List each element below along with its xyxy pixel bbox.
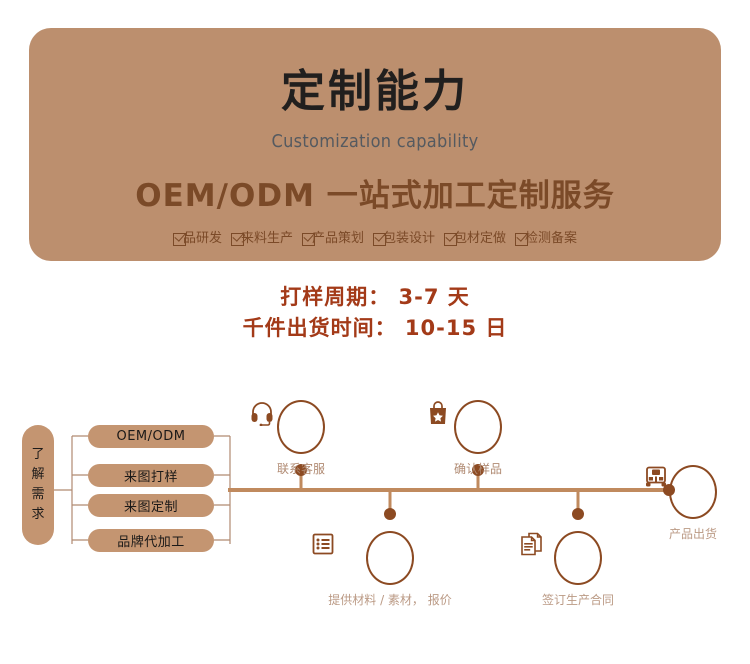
capability-banner: 定制能力 Customization capability OEM/ODM 一站… xyxy=(29,28,721,261)
headset-icon xyxy=(277,400,325,454)
list-document-icon xyxy=(366,531,414,585)
service-tag-label: 产品策划 xyxy=(312,230,364,248)
lead-time-info: 打样周期： 3-7 天 千件出货时间： 10-15 日 xyxy=(0,282,750,344)
need-char: 求 xyxy=(31,508,44,522)
need-char: 解 xyxy=(31,468,44,482)
service-tag-label: 包装设计 xyxy=(383,230,435,248)
sample-lead-time: 打样周期： 3-7 天 xyxy=(0,282,750,313)
need-char: 需 xyxy=(31,488,44,502)
banner-headline: OEM/ODM 一站式加工定制服务 xyxy=(29,176,721,216)
checkbox-checked-icon xyxy=(302,233,315,246)
flow-step-contact-service[interactable]: 联系客服 xyxy=(249,400,353,477)
option-pill-sample-by-image[interactable]: 来图打样 xyxy=(88,464,214,487)
service-tag: 产品策划 xyxy=(302,230,364,248)
option-pill-oem-odm[interactable]: OEM/ODM xyxy=(88,425,214,448)
checkbox-checked-icon xyxy=(173,233,186,246)
flow-step-label: 签订生产合同 xyxy=(518,592,638,608)
banner-subtitle: Customization capability xyxy=(29,131,721,153)
flow-step-label: 联系客服 xyxy=(249,461,353,477)
contract-documents-icon xyxy=(554,531,602,585)
flow-step-label: 产品出货 xyxy=(643,526,743,542)
understand-requirement-box: 了 解 需 求 xyxy=(22,425,54,545)
checkbox-checked-icon xyxy=(444,233,457,246)
service-tag-label: 包材定做 xyxy=(454,230,506,248)
checkbox-checked-icon xyxy=(231,233,244,246)
service-tag-label: 检测备案 xyxy=(525,230,577,248)
bulk-shipping-time: 千件出货时间： 10-15 日 xyxy=(0,313,750,344)
flow-step-provide-materials[interactable]: 提供材料 / 素材， 报价 xyxy=(310,531,470,608)
flow-step-sign-contract[interactable]: 签订生产合同 xyxy=(518,531,638,608)
service-tag-label: 来料生产 xyxy=(241,230,293,248)
checkbox-checked-icon xyxy=(515,233,528,246)
service-tag: 来料生产 xyxy=(231,230,293,248)
delivery-truck-icon xyxy=(669,465,717,519)
service-tag: 包材定做 xyxy=(444,230,506,248)
flow-step-confirm-sample[interactable]: 确认样品 xyxy=(426,400,530,477)
option-pill-custom-by-image[interactable]: 来图定制 xyxy=(88,494,214,517)
option-pill-brand-oem[interactable]: 品牌代加工 xyxy=(88,529,214,552)
flow-step-label: 确认样品 xyxy=(426,461,530,477)
service-tag: 品研发 xyxy=(173,230,222,248)
checkbox-checked-icon xyxy=(373,233,386,246)
banner-title: 定制能力 xyxy=(29,66,721,118)
process-flow-diagram: 了 解 需 求 OEM/ODM 来图打样 来图定制 品牌代加工 联系客服 xyxy=(0,390,750,664)
service-tag: 检测备案 xyxy=(515,230,577,248)
need-char: 了 xyxy=(31,448,44,462)
service-tag: 包装设计 xyxy=(373,230,435,248)
service-tag-label: 品研发 xyxy=(183,230,222,248)
service-tag-list: 品研发 来料生产 产品策划 包装设计 包材定做 检测备案 xyxy=(29,230,721,248)
shopping-bag-star-icon xyxy=(454,400,502,454)
flow-step-product-shipment[interactable]: 产品出货 xyxy=(643,465,743,542)
flow-step-label: 提供材料 / 素材， 报价 xyxy=(310,592,470,608)
